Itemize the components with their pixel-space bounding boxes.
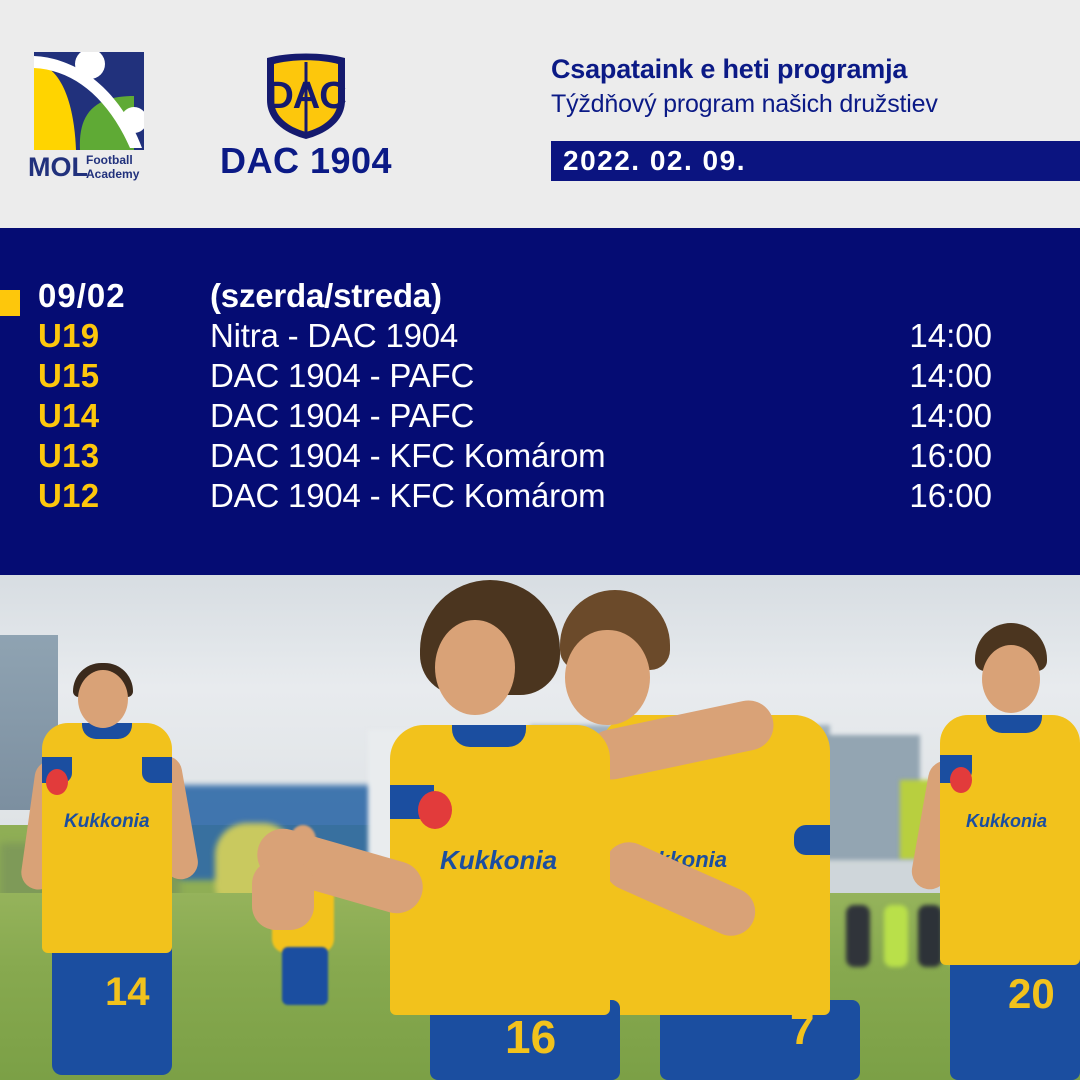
team-age-group: U14 <box>38 396 198 436</box>
header-title-block: Csapataink e heti programja Týždňový pro… <box>551 52 1051 121</box>
date-banner: 2022. 02. 09. <box>551 141 1080 181</box>
day-date: 09/02 <box>38 276 198 316</box>
photo-player4-head <box>982 645 1040 713</box>
photo-player4-mol-patch <box>950 767 972 793</box>
table-row: U14 DAC 1904 - PAFC 14:00 <box>0 396 1080 436</box>
photo-player1-mol-patch <box>46 769 68 795</box>
schedule-panel: 09/02 (szerda/streda) U19 Nitra - DAC 19… <box>0 228 1080 575</box>
photo-player-distant-shorts <box>282 947 328 1005</box>
dac-1904-logo: DAC DAC 1904 <box>210 52 402 180</box>
date-text: 2022. 02. 09. <box>563 144 746 178</box>
photo-player1-head <box>78 670 128 728</box>
photo-player4-shirt: Kukkonia <box>940 715 1080 965</box>
photo-player2-hand <box>252 860 314 930</box>
svg-text:Academy: Academy <box>86 167 140 181</box>
mol-football-academy-logo: MOL Football Academy <box>28 52 150 180</box>
svg-text:Football: Football <box>86 153 133 167</box>
photo-player4-sponsor-text: Kukkonia <box>966 811 1047 832</box>
team-celebration-photo: Kukkonia 14 Kukkonia 7 Kukkonia 16 <box>0 575 1080 1080</box>
day-names: (szerda/streda) <box>210 276 850 316</box>
header-bar: MOL Football Academy DAC DAC 1904 Csapat… <box>0 0 1080 228</box>
mol-academy-mark-icon <box>34 52 144 150</box>
match-kickoff-time: 14:00 <box>700 396 992 436</box>
photo-background-person <box>846 905 870 967</box>
title-hungarian: Csapataink e heti programja <box>551 52 1051 86</box>
photo-player2-jersey-number: 16 <box>505 1010 556 1064</box>
team-age-group: U13 <box>38 436 198 476</box>
photo-background-person <box>918 905 942 967</box>
table-row: U13 DAC 1904 - KFC Komárom 16:00 <box>0 436 1080 476</box>
team-age-group: U19 <box>38 316 198 356</box>
photo-player1-jersey-number: 14 <box>105 970 150 1015</box>
photo-player1-sponsor-text: Kukkonia <box>64 811 150 833</box>
dac-crest-icon: DAC <box>261 52 351 140</box>
title-slovak: Týždňový program našich družstiev <box>551 88 1051 121</box>
table-row: U19 Nitra - DAC 1904 14:00 <box>0 316 1080 356</box>
svg-text:MOL: MOL <box>28 152 88 181</box>
match-kickoff-time: 16:00 <box>700 476 992 516</box>
photo-player4-collar <box>986 715 1042 733</box>
photo-background-person <box>884 905 908 967</box>
table-row: U12 DAC 1904 - KFC Komárom 16:00 <box>0 476 1080 516</box>
photo-player2-collar <box>452 725 526 747</box>
photo-player3-sleeve <box>794 825 830 855</box>
match-kickoff-time: 14:00 <box>700 356 992 396</box>
photo-player2-shirt: Kukkonia <box>390 725 610 1015</box>
mol-wordmark-text: MOL Football Academy <box>28 151 150 181</box>
photo-player3-head <box>565 630 650 725</box>
schedule-day-header-row: 09/02 (szerda/streda) <box>0 276 1080 316</box>
photo-player4-jersey-number: 20 <box>1008 970 1055 1018</box>
svg-text:DAC: DAC <box>266 75 346 117</box>
table-row: U15 DAC 1904 - PAFC 14:00 <box>0 356 1080 396</box>
dac-1904-name: DAC 1904 <box>210 140 402 182</box>
photo-player1-shirt: Kukkonia <box>42 723 172 953</box>
photo-player3-jersey-number: 7 <box>790 1005 814 1055</box>
photo-player1-sleeve-right <box>142 757 172 783</box>
schedule-rows: 09/02 (szerda/streda) U19 Nitra - DAC 19… <box>0 276 1080 516</box>
team-age-group: U15 <box>38 356 198 396</box>
photo-player2-head <box>435 620 515 715</box>
match-kickoff-time: 14:00 <box>700 316 992 356</box>
photo-player2-sponsor-text: Kukkonia <box>440 845 557 876</box>
match-kickoff-time: 16:00 <box>700 436 992 476</box>
weekly-program-poster: MOL Football Academy DAC DAC 1904 Csapat… <box>0 0 1080 1080</box>
photo-player2-mol-patch <box>418 791 452 829</box>
team-age-group: U12 <box>38 476 198 516</box>
